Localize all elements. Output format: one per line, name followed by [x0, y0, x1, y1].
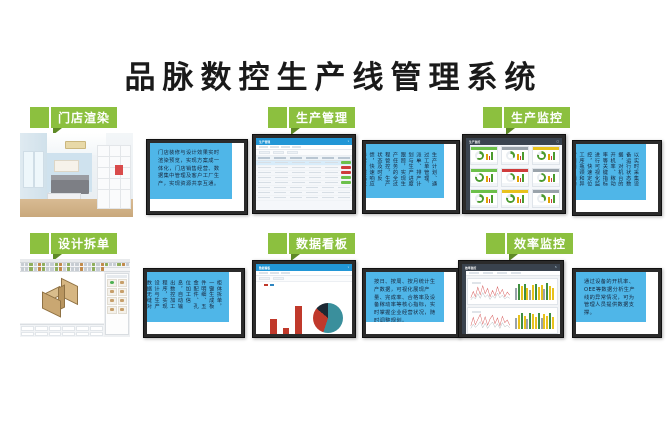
text-panel-design-split-order: 柜体拆单，一键生成板件明细、五金配件、孔位加工信息，自动输出数控加工程序，实现设… — [137, 262, 245, 338]
palette-item[interactable] — [118, 297, 128, 305]
line-chart — [470, 281, 511, 302]
app-title: 生产管理 — [259, 140, 270, 144]
gauge-card[interactable] — [532, 189, 560, 208]
preview-production-monitoring[interactable]: 生产监控 ◯ — [462, 134, 566, 214]
bi-dashboard-app: 数据看板 ▾ — [256, 264, 352, 334]
tag-square-icon — [268, 107, 289, 128]
palette-grid[interactable] — [107, 279, 127, 314]
preview-store-rendering[interactable] — [20, 133, 133, 217]
sidebar-rail[interactable] — [462, 271, 466, 334]
section-tag-design-split-order: 设计拆单 — [30, 233, 117, 254]
gauge-grid — [470, 146, 560, 208]
chart-panel[interactable] — [467, 307, 558, 334]
tag-label: 生产管理 — [289, 107, 355, 128]
gauge-card[interactable] — [501, 146, 529, 165]
text-panel-production-monitoring: 以实时采集设备运行状态数据，对机台的开机率、稼动率等关键指标进行可视化监控，快速… — [566, 134, 662, 216]
bar-series — [270, 301, 302, 334]
tag-square-icon — [30, 107, 51, 128]
line-chart-svg — [470, 281, 511, 302]
gauge-card[interactable] — [470, 189, 498, 208]
ceiling-lamp-icon — [65, 141, 85, 149]
bed — [51, 180, 89, 194]
tag-square-icon — [483, 107, 504, 128]
preview-screen: 生产监控 ◯ — [466, 138, 562, 210]
line-chart — [470, 310, 511, 331]
text-panel-body: 以实时采集设备运行状态数据，对机台的开机率、稼动率等关键指标进行可视化监控，快速… — [576, 144, 646, 200]
cad-toolbar-row-2[interactable] — [20, 268, 130, 272]
room-window — [23, 151, 43, 188]
text-panel-production-management: 生产计划、通过工单管理、派单、排产计划与生产进度跟踪，实现生产任务的全过程管控，… — [356, 134, 460, 214]
shelf-unit — [97, 145, 131, 209]
tag-label: 数据看板 — [289, 233, 355, 254]
preview-production-management[interactable]: 生产管理 ▾ — [252, 134, 356, 214]
gauge-card[interactable] — [501, 168, 529, 187]
text-panel-fill: 通过设备的开机率、OEE等数据分析生产线的异常情况，可为管理人员提供数据支撑。 — [576, 272, 658, 334]
section-tag-data-dashboard: 数据看板 — [268, 233, 355, 254]
app-topbar: 效率监控 ↻ — [462, 264, 560, 271]
palette-item[interactable] — [118, 306, 128, 314]
efficiency-app: 效率监控 ↻ — [462, 264, 560, 334]
cabinet-3d-model — [40, 279, 85, 316]
tag-label: 效率监控 — [507, 233, 573, 254]
app-title: 生产监控 — [469, 140, 480, 144]
text-panel-store-rendering: 门店装修与设计效果实时渲染预览，实现方案成一体化，门店销售经营、数据集中管理及客… — [140, 133, 248, 215]
gauge-row — [470, 189, 560, 208]
app-title: 效率监控 — [465, 266, 476, 270]
text-panel-fill: 门店装修与设计效果实时渲染预览，实现方案成一体化，门店销售经营、数据集中管理及客… — [150, 143, 244, 211]
palette-item[interactable] — [118, 279, 128, 287]
palette-item[interactable] — [107, 306, 117, 314]
section-tag-efficiency-monitoring: 效率监控 — [486, 233, 573, 254]
bar-chart — [262, 300, 306, 334]
palette-item[interactable] — [107, 297, 117, 305]
poster-root: 品脉数控生产线管理系统 门店渲染 — [0, 0, 667, 425]
text-panel-body: 门店装修与设计效果实时渲染预览，实现方案成一体化，门店销售经营、数据集中管理及客… — [150, 143, 232, 199]
text-panel-body: 通过设备的开机率、OEE等数据分析生产线的异常情况，可为管理人员提供数据支撑。 — [576, 272, 646, 322]
cad-canvas[interactable] — [20, 272, 104, 323]
status-bar-chart — [514, 310, 555, 331]
table-row[interactable] — [256, 196, 352, 201]
gauge-row — [470, 146, 560, 165]
text-panel-body: 生产计划、通过工单管理、派单、排产计划与生产进度跟踪，实现生产任务的全过程管控，… — [366, 144, 444, 198]
gauge-card[interactable] — [532, 168, 560, 187]
text-panel-data-dashboard: 按日、按周、按月统计生产数据，可视化展现产量、完成率、合格率及设备稼动率等核心指… — [356, 262, 460, 338]
preview-screen: 效率监控 ↻ — [462, 264, 560, 334]
tag-square-icon — [486, 233, 507, 254]
gauge-card[interactable] — [501, 189, 529, 208]
pie-chart — [313, 303, 343, 333]
app-clock: ◯ — [556, 140, 559, 143]
line-chart-svg — [470, 310, 511, 331]
gauge-row — [470, 168, 560, 187]
tag-square-icon — [30, 233, 51, 254]
shelf-accent-box — [115, 165, 123, 175]
preview-efficiency-monitoring[interactable]: 效率监控 ↻ — [458, 260, 564, 338]
tag-label: 生产监控 — [504, 107, 570, 128]
preview-data-dashboard[interactable]: 数据看板 ▾ — [252, 260, 356, 338]
preview-screen — [20, 259, 130, 337]
app-user-menu[interactable]: ▾ — [348, 266, 349, 269]
chart-legend — [264, 284, 274, 286]
palette-item[interactable] — [107, 288, 117, 296]
text-panel-fill: 以实时采集设备运行状态数据，对机台的开机率、稼动率等关键指标进行可视化监控，快速… — [576, 144, 658, 212]
status-bar-chart — [514, 281, 555, 302]
cad-app — [20, 259, 130, 337]
preview-design-split-order[interactable] — [20, 259, 130, 337]
text-panel-body: 按日、按周、按月统计生产数据，可视化展现产量、完成率、合格率及设备稼动率等核心指… — [366, 272, 444, 322]
wall-art — [54, 160, 79, 172]
app-topbar: 生产管理 ▾ — [256, 138, 352, 145]
preview-screen — [20, 133, 133, 217]
app-refresh-icon[interactable]: ↻ — [555, 266, 557, 269]
bi-charts — [256, 282, 352, 334]
palette-item[interactable] — [107, 279, 117, 287]
production-management-app: 生产管理 ▾ — [256, 138, 352, 210]
app-topbar: 生产监控 ◯ — [466, 138, 562, 145]
text-panel-fill: 生产计划、通过工单管理、派单、排产计划与生产进度跟踪，实现生产任务的全过程管控，… — [366, 144, 456, 210]
section-tag-production-management: 生产管理 — [268, 107, 355, 128]
monitoring-dashboard-app: 生产监控 ◯ — [466, 138, 562, 210]
cad-property-bar[interactable] — [20, 324, 104, 337]
text-panel-fill: 按日、按周、按月统计生产数据，可视化展现产量、完成率、合格率及设备稼动率等核心指… — [366, 272, 456, 334]
gauge-card[interactable] — [470, 168, 498, 187]
section-tag-production-monitoring: 生产监控 — [483, 107, 570, 128]
app-topbar: 数据看板 ▾ — [256, 264, 352, 271]
gauge-card[interactable] — [532, 146, 560, 165]
app-user-menu[interactable]: ▾ — [348, 140, 349, 143]
preview-screen: 生产管理 ▾ — [256, 138, 352, 210]
tag-label: 设计拆单 — [51, 233, 117, 254]
palette-item[interactable] — [118, 288, 128, 296]
chart-panel[interactable] — [467, 278, 558, 305]
room-render-image — [20, 133, 133, 217]
palette-header — [107, 275, 127, 278]
page-title: 品脉数控生产线管理系统 — [0, 52, 667, 97]
gauge-card[interactable] — [470, 146, 498, 165]
text-panel-body: 柜体拆单，一键生成板件明细、五金配件、孔位加工信息，自动输出数控加工程序，实现设… — [147, 272, 229, 322]
tag-square-icon — [268, 233, 289, 254]
cad-component-palette[interactable] — [105, 273, 129, 335]
app-title: 数据看板 — [259, 266, 270, 270]
filter-bar[interactable] — [466, 271, 560, 276]
text-panel-efficiency-monitoring: 通过设备的开机率、OEE等数据分析生产线的异常情况，可为管理人员提供数据支撑。 — [566, 262, 662, 338]
preview-screen: 数据看板 ▾ — [256, 264, 352, 334]
text-panel-fill: 柜体拆单，一键生成板件明细、五金配件、孔位加工信息，自动输出数控加工程序，实现设… — [147, 272, 241, 334]
production-table[interactable] — [256, 156, 352, 201]
section-tag-store-rendering: 门店渲染 — [30, 107, 117, 128]
tag-label: 门店渲染 — [51, 107, 117, 128]
